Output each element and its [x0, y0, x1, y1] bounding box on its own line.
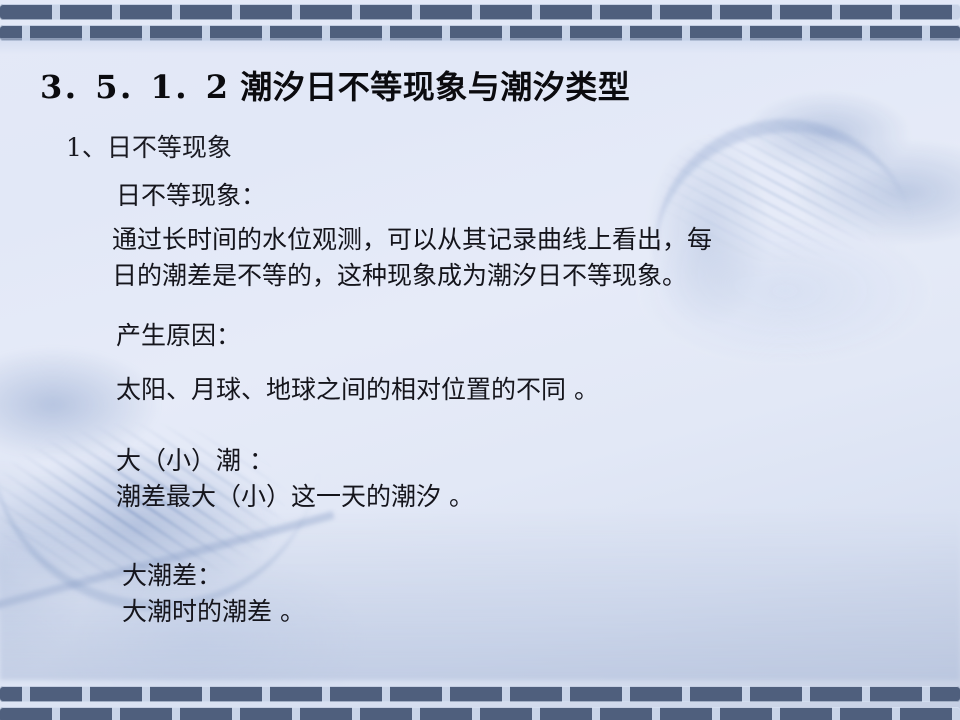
section-spring-range: 大潮差： 大潮时的潮差 。	[122, 558, 305, 630]
slide-content: 3．5．1．2 潮汐日不等现象与潮汐类型 1、日不等现象 日不等现象： 通过长时…	[0, 0, 960, 720]
spring-range-body: 大潮时的潮差 。	[122, 594, 305, 630]
spring-neap-body: 潮差最大（小）这一天的潮汐 。	[116, 479, 474, 515]
definition-body-line-2: 日的潮差是不等的，这种现象成为潮汐日不等现象。	[112, 258, 872, 294]
spring-neap-heading: 大（小）潮 ：	[116, 443, 474, 479]
definition-heading: 日不等现象：	[116, 178, 266, 214]
section-cause-heading: 产生原因：	[116, 318, 241, 354]
cause-body: 太阳、月球、地球之间的相对位置的不同 。	[116, 372, 599, 408]
cause-heading: 产生原因：	[116, 318, 241, 354]
section-definition: 日不等现象：	[116, 178, 266, 214]
section-definition-body: 通过长时间的水位观测，可以从其记录曲线上看出，每 日的潮差是不等的，这种现象成为…	[112, 222, 872, 294]
spring-range-heading: 大潮差：	[122, 558, 305, 594]
section-spring-neap: 大（小）潮 ： 潮差最大（小）这一天的潮汐 。	[116, 443, 474, 515]
bullet-item-1: 1、日不等现象	[66, 128, 232, 164]
slide-title: 3．5．1．2 潮汐日不等现象与潮汐类型	[40, 62, 630, 108]
presentation-slide: 3．5．1．2 潮汐日不等现象与潮汐类型 1、日不等现象 日不等现象： 通过长时…	[0, 0, 960, 720]
definition-body-line-1: 通过长时间的水位观测，可以从其记录曲线上看出，每	[112, 222, 872, 258]
section-cause-body: 太阳、月球、地球之间的相对位置的不同 。	[116, 372, 599, 408]
